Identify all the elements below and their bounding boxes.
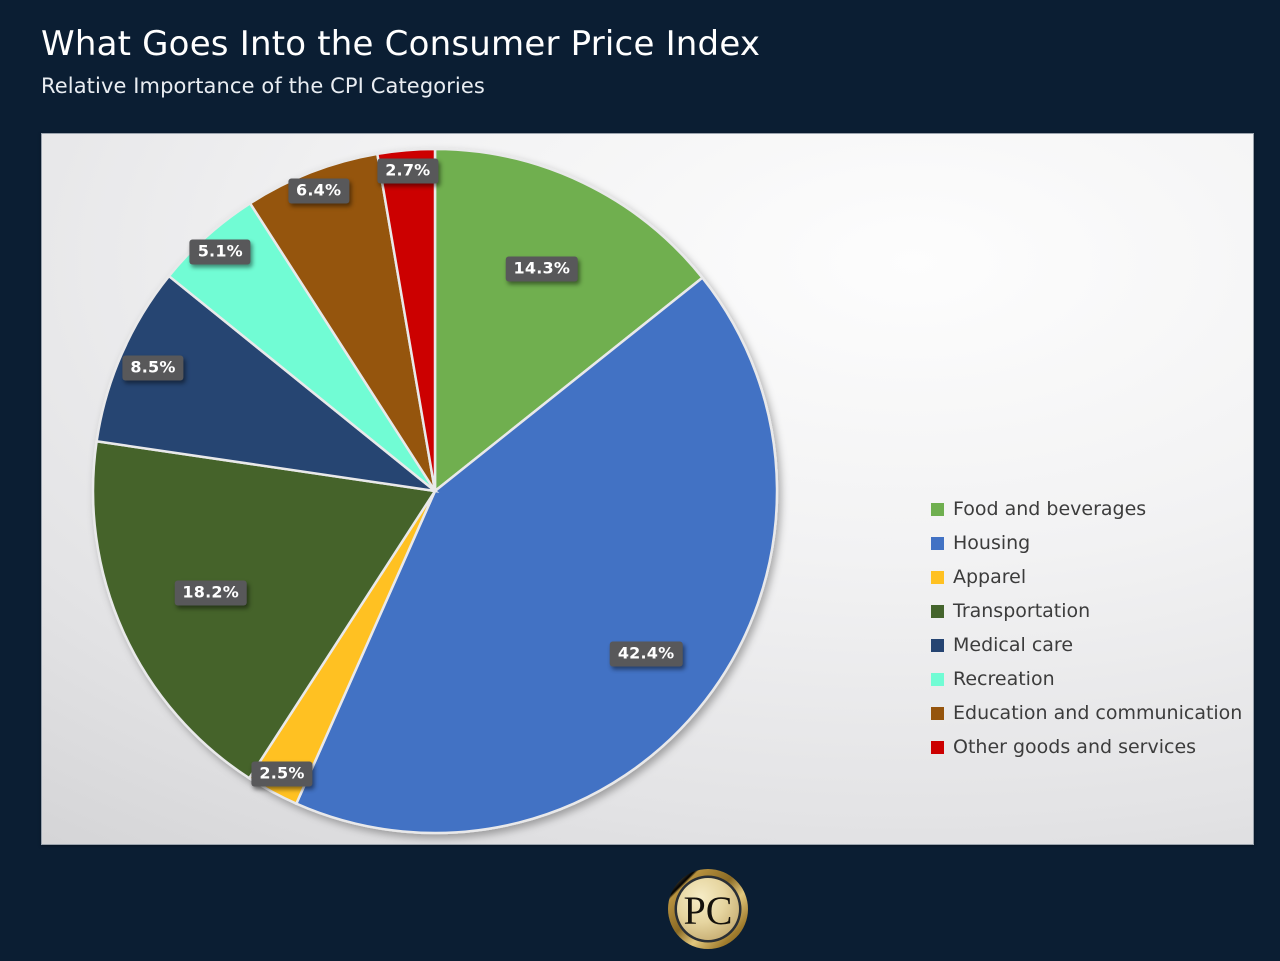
pie-slice-label: 2.5% (251, 761, 312, 786)
legend-swatch-icon (931, 571, 944, 584)
legend-swatch-icon (931, 537, 944, 550)
legend-item-label: Medical care (953, 636, 1073, 655)
pie-slice-label: 6.4% (288, 179, 349, 204)
legend-item-label: Transportation (953, 602, 1090, 621)
legend-swatch-icon (931, 741, 944, 754)
legend-item[interactable]: Housing (931, 526, 1242, 560)
legend-item-label: Recreation (953, 670, 1055, 689)
brand-name: PRATO CAPITAL (774, 879, 1280, 939)
brand-footer: PC PRATO CAPITAL (666, 861, 1280, 957)
pie-slice-label: 5.1% (190, 239, 251, 264)
legend-item[interactable]: Food and beverages (931, 492, 1242, 526)
legend-item[interactable]: Apparel (931, 560, 1242, 594)
legend-item-label: Food and beverages (953, 500, 1146, 519)
legend-item-label: Education and communication (953, 704, 1242, 723)
pie-slice-label: 2.7% (377, 158, 438, 183)
legend-swatch-icon (931, 503, 944, 516)
page-title: What Goes Into the Consumer Price Index (41, 26, 1241, 63)
chart-header: What Goes Into the Consumer Price Index … (41, 26, 1241, 98)
monogram-text: PC (684, 888, 733, 933)
legend-item-label: Housing (953, 534, 1030, 553)
prato-capital-medallion-icon: PC (666, 867, 750, 951)
chart-legend: Food and beveragesHousingApparelTranspor… (931, 492, 1242, 764)
page-subtitle: Relative Importance of the CPI Categorie… (41, 74, 1241, 98)
legend-swatch-icon (931, 605, 944, 618)
legend-item-label: Apparel (953, 568, 1026, 587)
legend-item[interactable]: Education and communication (931, 696, 1242, 730)
legend-item[interactable]: Other goods and services (931, 730, 1242, 764)
legend-item[interactable]: Transportation (931, 594, 1242, 628)
legend-item[interactable]: Recreation (931, 662, 1242, 696)
pie-slice-label: 14.3% (506, 257, 579, 282)
legend-swatch-icon (931, 673, 944, 686)
legend-item[interactable]: Medical care (931, 628, 1242, 662)
legend-swatch-icon (931, 639, 944, 652)
pie-slice-label: 8.5% (122, 355, 183, 380)
pie-slice-label: 42.4% (610, 642, 683, 667)
pie-slice-label: 18.2% (174, 580, 247, 605)
chart-panel: 14.3%42.4%2.5%18.2%8.5%5.1%6.4%2.7% Food… (41, 133, 1254, 845)
legend-item-label: Other goods and services (953, 738, 1196, 757)
legend-swatch-icon (931, 707, 944, 720)
